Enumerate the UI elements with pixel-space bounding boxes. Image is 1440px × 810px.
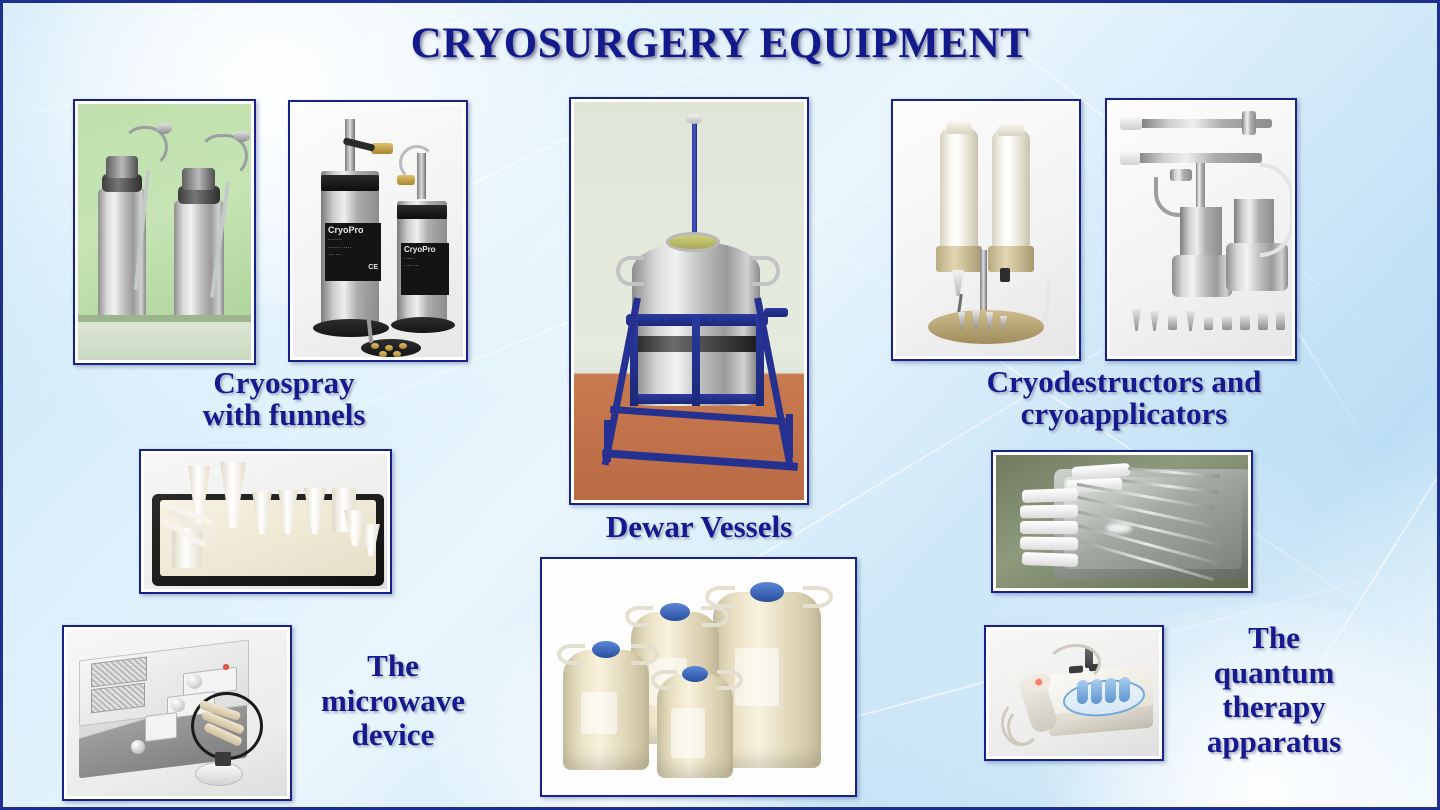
photo-quantum-unit: [984, 625, 1164, 761]
photo-cryopro-devices: CryoPro ············· ········ ··· CE Cr…: [288, 100, 468, 362]
dewar-small-handle-l: [651, 670, 677, 690]
caption-quantum-line2: quantum: [1175, 656, 1373, 691]
microwave-dial-1: [187, 674, 202, 689]
applicator-handle-4: [1020, 536, 1078, 550]
microwave-dial-3: [131, 740, 145, 754]
dewar-medium-handle-r: [701, 606, 729, 627]
tray-specular-highlight: [1106, 523, 1132, 533]
flask-right-nozzle: [234, 131, 250, 142]
cryodestructor-base-plate: [928, 310, 1044, 344]
caption-microwave-line2: microwave: [295, 684, 491, 719]
microwave-display: [145, 712, 177, 742]
cryopro-large-base: [313, 319, 389, 337]
cylinder-left-cap: [946, 120, 972, 134]
slide-root: CRYOSURGERY EQUIPMENT: [0, 0, 1440, 810]
dewar-handle-right: [752, 256, 780, 286]
applicator-handle-5: [1022, 552, 1078, 567]
applicator-handle-1: [1022, 488, 1078, 503]
dewar-dipstick: [692, 120, 697, 248]
handpiece-lower-shaft: [1136, 153, 1262, 163]
bench-top: [78, 322, 251, 360]
photo-applicator-tray: [991, 450, 1253, 593]
dewar-dipstick-knob: [686, 114, 702, 124]
tip-row-9: [1276, 312, 1285, 330]
caption-quantum-therapy: The quantum therapy apparatus: [1175, 621, 1373, 760]
applicator-handle-2: [1020, 504, 1078, 518]
caption-cryospray-line1: Cryospray: [153, 367, 415, 399]
dewar-handle-left: [616, 256, 644, 286]
cradle-pivot-right: [764, 308, 788, 317]
caption-quantum-line1: The: [1175, 621, 1373, 656]
cryopro-large-label: CryoPro ············· ········ ··· CE: [325, 223, 381, 281]
dewar-left-handle-l: [557, 644, 585, 665]
photo-cryodestructor-stand: [891, 99, 1081, 361]
microwave-dial-2: [171, 698, 185, 712]
canister-left-body: [1172, 255, 1232, 297]
microwave-power-led: [223, 664, 229, 670]
caption-cryodestructors: Cryodestructors and cryoapplicators: [933, 366, 1315, 430]
canister-hose: [1260, 163, 1292, 257]
tip-row-7: [1240, 315, 1250, 330]
stand-base-left: [604, 420, 611, 462]
caption-quantum-line3: therapy: [1175, 690, 1373, 725]
photo-dewar-vessel-stand: [569, 97, 809, 505]
cylinder-right-cap: [998, 122, 1024, 136]
photo-cryoapplicator-set: [1105, 98, 1297, 361]
cryopro-small-base: [391, 317, 455, 333]
cryopro-small-label: CryoPro ··········· ···: [401, 243, 449, 295]
cylinder-right-collar: [988, 246, 1034, 272]
cradle-post-mid: [692, 314, 700, 406]
tip-row-6: [1222, 316, 1232, 330]
photo-cryospray-flasks: [73, 99, 256, 365]
handpiece-lower-tip: [1120, 150, 1140, 165]
caption-microwave-device: The microwave device: [295, 649, 491, 753]
caption-cryodestructors-line2: cryoapplicators: [933, 398, 1315, 430]
caption-dewar-vessels: Dewar Vessels: [543, 511, 855, 543]
caption-quantum-line4: apparatus: [1175, 725, 1373, 760]
dewar-large-handle-r: [803, 586, 833, 608]
dewar-medium-handle-l: [625, 606, 653, 627]
cryopro-large-stem: [345, 119, 355, 175]
caption-cryospray-line2: with funnels: [153, 399, 415, 431]
quantum-key-4: [1119, 677, 1130, 703]
cryodestructor-cylinder-right: [992, 130, 1030, 252]
dewar-large-handle-l: [705, 586, 735, 608]
tip-row-3: [1168, 315, 1177, 330]
dewar-small-handle-r: [717, 670, 743, 690]
quantum-key-3: [1105, 678, 1116, 704]
cryopro-large-ce-mark: CE: [368, 264, 378, 271]
dewar-flask-left: [563, 650, 649, 770]
photo-dewar-flask-group: [540, 557, 857, 797]
page-title: CRYOSURGERY EQUIPMENT: [3, 19, 1437, 68]
applicator-handle-3: [1020, 521, 1078, 534]
cylinder-left-collar: [936, 246, 982, 272]
dewar-vessel-lid: [666, 232, 720, 252]
tip-row-5: [1204, 317, 1213, 330]
caption-microwave-line1: The: [295, 649, 491, 684]
photo-microwave-unit: [62, 625, 292, 801]
tip-row-8: [1258, 313, 1268, 330]
quantum-cable-coil-2: [1007, 708, 1039, 746]
cryodestructor-cylinder-left: [940, 128, 978, 252]
handpiece-lower-stem: [1196, 163, 1205, 211]
caption-cryodestructors-line1: Cryodestructors and: [933, 366, 1315, 398]
cryopro-small-brand: CryoPro: [404, 245, 436, 254]
caption-microwave-line3: device: [295, 718, 491, 753]
dewar-left-handle-r: [631, 644, 659, 665]
cryopro-large-brand: CryoPro: [328, 225, 364, 235]
cryopro-small-arm: [399, 145, 435, 181]
handpiece-upper-tip: [1120, 116, 1142, 130]
microwave-disc-connector: [215, 752, 231, 766]
handpiece-upper-valve: [1242, 111, 1256, 135]
photo-funnel-tray: [139, 449, 392, 594]
stand-base-right: [786, 414, 793, 458]
caption-dewar-vessels-text: Dewar Vessels: [543, 511, 855, 543]
caption-cryospray: Cryospray with funnels: [153, 367, 415, 431]
quantum-key-2: [1091, 679, 1102, 705]
bench-edge: [78, 315, 251, 322]
flask-left-nozzle: [156, 123, 172, 134]
